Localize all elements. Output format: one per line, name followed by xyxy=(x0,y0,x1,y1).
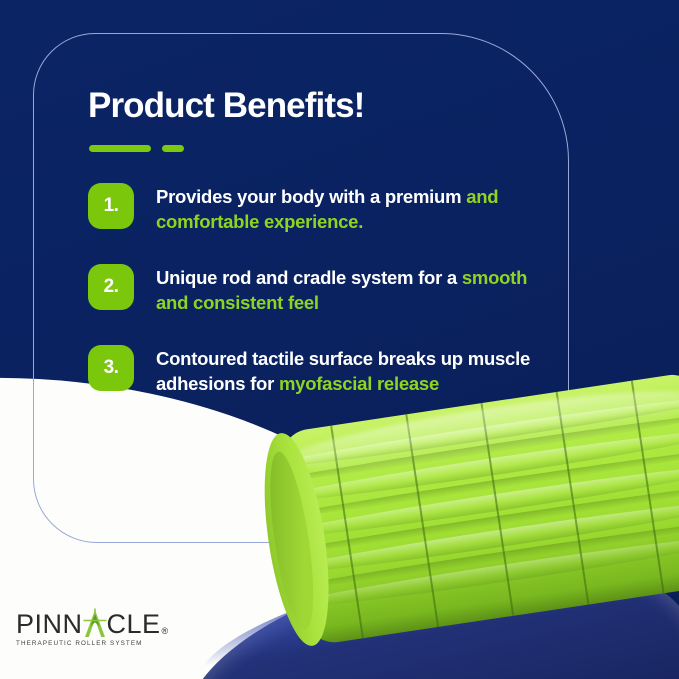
accent-dash-long xyxy=(89,145,151,152)
benefit-text-plain: Unique rod and cradle system for a xyxy=(156,267,457,288)
benefit-text-highlight: myofascial release xyxy=(279,373,439,394)
benefits-list: 1. Provides your body with a premium and… xyxy=(88,183,558,427)
list-item: 3. Contoured tactile surface breaks up m… xyxy=(88,345,558,396)
white-swoosh-fill xyxy=(0,479,270,679)
list-item: 1. Provides your body with a premium and… xyxy=(88,183,558,234)
logo-text-part1: PINN xyxy=(16,611,83,638)
product-benefits-infographic: Product Benefits! 1. Provides your body … xyxy=(0,0,679,679)
benefit-text: Unique rod and cradle system for a smoot… xyxy=(156,264,558,315)
accent-dash-short xyxy=(162,145,184,152)
benefit-number-badge: 2. xyxy=(88,264,134,310)
list-item: 2. Unique rod and cradle system for a sm… xyxy=(88,264,558,315)
logo-wordmark: PINN CLE ® xyxy=(16,608,176,638)
benefit-number-badge: 3. xyxy=(88,345,134,391)
page-title: Product Benefits! xyxy=(88,88,364,123)
logo-text-part2: CLE xyxy=(107,611,161,638)
benefit-text: Provides your body with a premium and co… xyxy=(156,183,558,234)
benefit-text-plain: Provides your body with a premium xyxy=(156,186,461,207)
pinnacle-mountain-icon xyxy=(82,608,108,638)
title-underline-accent xyxy=(89,145,184,152)
benefit-text: Contoured tactile surface breaks up musc… xyxy=(156,345,558,396)
brand-logo: PINN CLE ® THERAPEUTIC ROLLER SYSTEM xyxy=(16,608,176,647)
benefit-number-badge: 1. xyxy=(88,183,134,229)
logo-tagline: THERAPEUTIC ROLLER SYSTEM xyxy=(16,640,176,647)
logo-trademark: ® xyxy=(162,627,169,638)
